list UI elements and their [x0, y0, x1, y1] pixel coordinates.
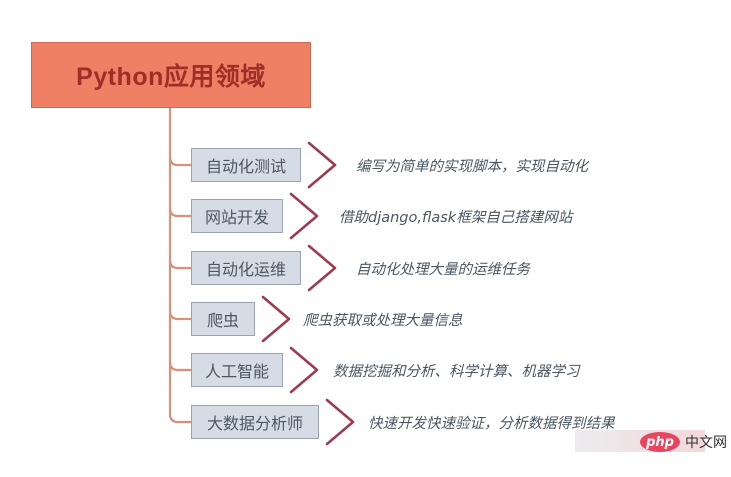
branch-description-4: 爬虫获取或处理大量信息: [303, 309, 463, 330]
branch-node-1[interactable]: 自动化测试: [191, 148, 301, 182]
branch-node-label: 自动化测试: [206, 153, 286, 177]
branch-description-2: 借助django,flask框架自己搭建网站: [339, 206, 572, 227]
branch-node-3[interactable]: 自动化运维: [191, 251, 301, 285]
branch-node-label: 自动化运维: [206, 256, 286, 280]
branch-node-5[interactable]: 人工智能: [191, 353, 283, 387]
branch-node-4[interactable]: 爬虫: [191, 302, 255, 336]
root-node-python-fields[interactable]: Python应用领域: [31, 42, 311, 108]
root-node-label: Python应用领域: [76, 57, 266, 93]
watermark: php 中文网: [640, 432, 727, 452]
branch-node-label: 人工智能: [205, 358, 269, 382]
branch-description-5: 数据挖掘和分析、科学计算、机器学习: [333, 360, 580, 381]
diagram-canvas: Python应用领域 自动化测试编写为简单的实现脚本，实现自动化网站开发借助dj…: [0, 0, 731, 477]
branch-node-2[interactable]: 网站开发: [191, 199, 283, 233]
branch-node-label: 大数据分析师: [207, 410, 303, 434]
branch-description-1: 编写为简单的实现脚本，实现自动化: [356, 155, 588, 176]
watermark-site-label: 中文网: [685, 432, 727, 452]
branch-node-label: 网站开发: [205, 204, 269, 228]
branch-description-3: 自动化处理大量的运维任务: [356, 258, 530, 279]
branch-node-6[interactable]: 大数据分析师: [191, 405, 319, 439]
branch-node-label: 爬虫: [207, 307, 239, 331]
php-logo-icon: php: [640, 432, 680, 452]
